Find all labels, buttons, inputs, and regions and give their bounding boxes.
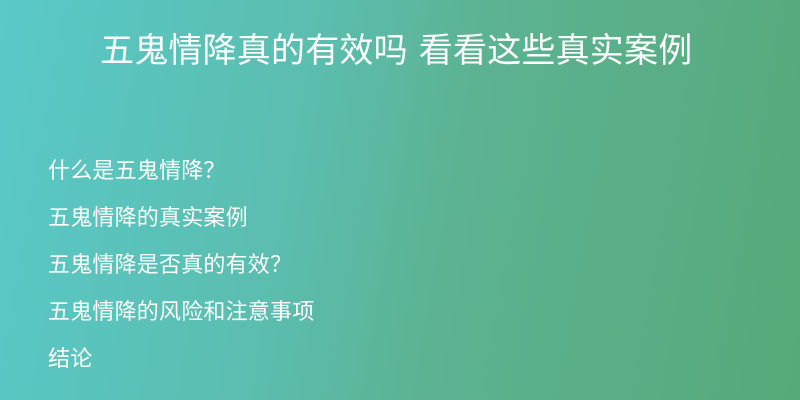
- list-item: 什么是五鬼情降？: [48, 148, 748, 195]
- article-outline: 什么是五鬼情降？ 五鬼情降的真实案例 五鬼情降是否真的有效？ 五鬼情降的风险和注…: [48, 148, 748, 383]
- list-item: 五鬼情降的风险和注意事项: [48, 289, 748, 336]
- list-item: 结论: [48, 336, 748, 383]
- page-title: 五鬼情降真的有效吗 看看这些真实案例: [100, 24, 712, 78]
- article-cover-card: 五鬼情降真的有效吗 看看这些真实案例 什么是五鬼情降？ 五鬼情降的真实案例 五鬼…: [0, 0, 800, 400]
- list-item: 五鬼情降是否真的有效？: [48, 242, 748, 289]
- list-item: 五鬼情降的真实案例: [48, 195, 748, 242]
